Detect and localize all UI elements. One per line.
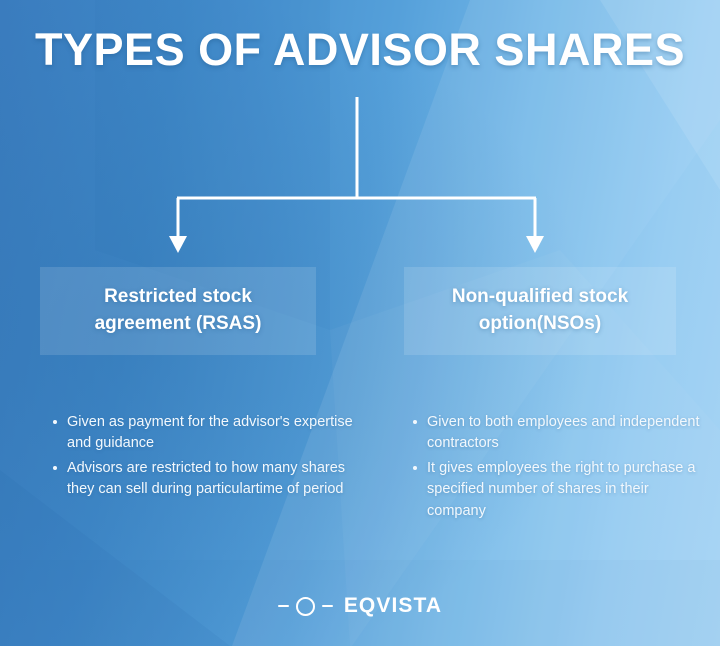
logo-ring-icon bbox=[296, 597, 315, 616]
logo-dash-left-icon bbox=[278, 605, 289, 607]
branch-header-nsos-label: Non-qualified stock option(NSOs) bbox=[452, 284, 628, 338]
brand-logo: EQVISTA bbox=[0, 594, 720, 618]
branch-bullets-rsas: Given as payment for the advisor's exper… bbox=[50, 412, 360, 504]
logo-dash-right-icon bbox=[322, 605, 333, 607]
list-item: Given to both employees and independent … bbox=[410, 412, 700, 455]
branch-header-rsas-line2: agreement (RSAS) bbox=[95, 313, 262, 334]
branch-header-rsas-line1: Restricted stock bbox=[104, 286, 252, 307]
branch-bullets-nsos: Given to both employees and independent … bbox=[410, 412, 700, 525]
branch-header-rsas: Restricted stock agreement (RSAS) bbox=[40, 267, 316, 355]
branch-header-nsos-line1: Non-qualified stock bbox=[452, 286, 628, 307]
list-item: Given as payment for the advisor's exper… bbox=[50, 412, 360, 455]
brand-name: EQVISTA bbox=[344, 594, 442, 618]
page-title: TYPES OF ADVISOR SHARES bbox=[0, 24, 720, 76]
list-item: It gives employees the right to purchase… bbox=[410, 458, 700, 522]
list-item: Advisors are restricted to how many shar… bbox=[50, 458, 360, 501]
infographic-canvas: TYPES OF ADVISOR SHARES Restricted stock… bbox=[0, 0, 720, 646]
branch-header-nsos-line2: option(NSOs) bbox=[479, 313, 601, 334]
branch-header-rsas-label: Restricted stock agreement (RSAS) bbox=[95, 284, 262, 338]
branch-header-nsos: Non-qualified stock option(NSOs) bbox=[404, 267, 676, 355]
